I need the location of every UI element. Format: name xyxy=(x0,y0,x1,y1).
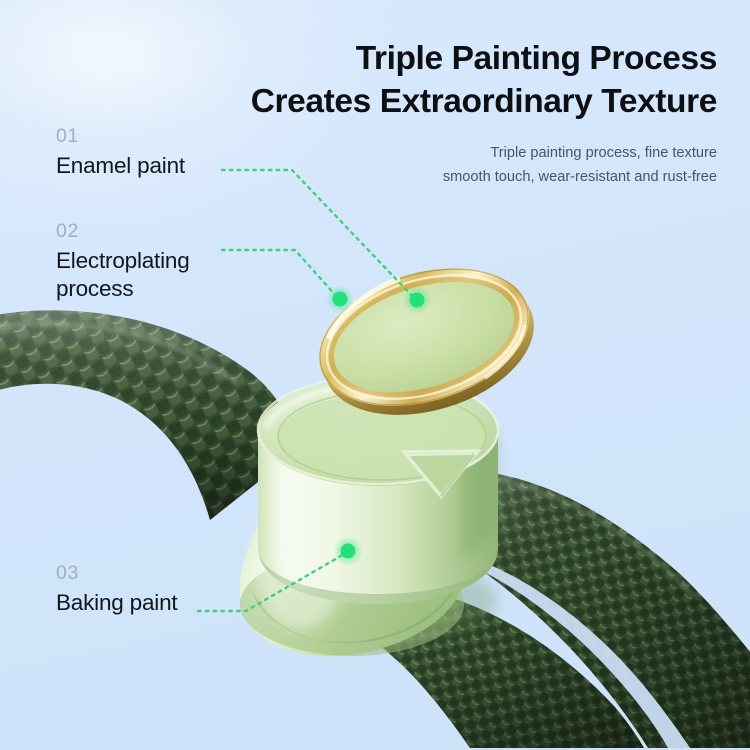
callout-02-number: 02 xyxy=(56,221,190,242)
subtitle-line-1: Triple painting process, fine texture xyxy=(297,142,717,166)
cable-left-strand xyxy=(0,310,296,520)
callout-02: 02 Electroplating process xyxy=(56,221,190,302)
callout-01-label: Enamel paint xyxy=(56,152,185,179)
callout-03-number: 03 xyxy=(56,563,177,584)
callout-03-label: Baking paint xyxy=(56,589,177,616)
callout-01: 01 Enamel paint xyxy=(56,126,185,180)
title-line-1: Triple Painting Process xyxy=(237,38,717,81)
title-line-2: Creates Extraordinary Texture xyxy=(237,81,717,124)
callout-03: 03 Baking paint xyxy=(56,563,177,617)
callout-01-number: 01 xyxy=(56,126,185,147)
subtitle-line-2: smooth touch, wear-resistant and rust-fr… xyxy=(297,166,717,190)
product-feature-image: Triple Painting Process Creates Extraord… xyxy=(0,0,750,750)
callout-02-label: Electroplating process xyxy=(56,247,190,302)
page-subtitle: Triple painting process, fine texture sm… xyxy=(297,142,717,189)
page-title: Triple Painting Process Creates Extraord… xyxy=(237,38,717,123)
